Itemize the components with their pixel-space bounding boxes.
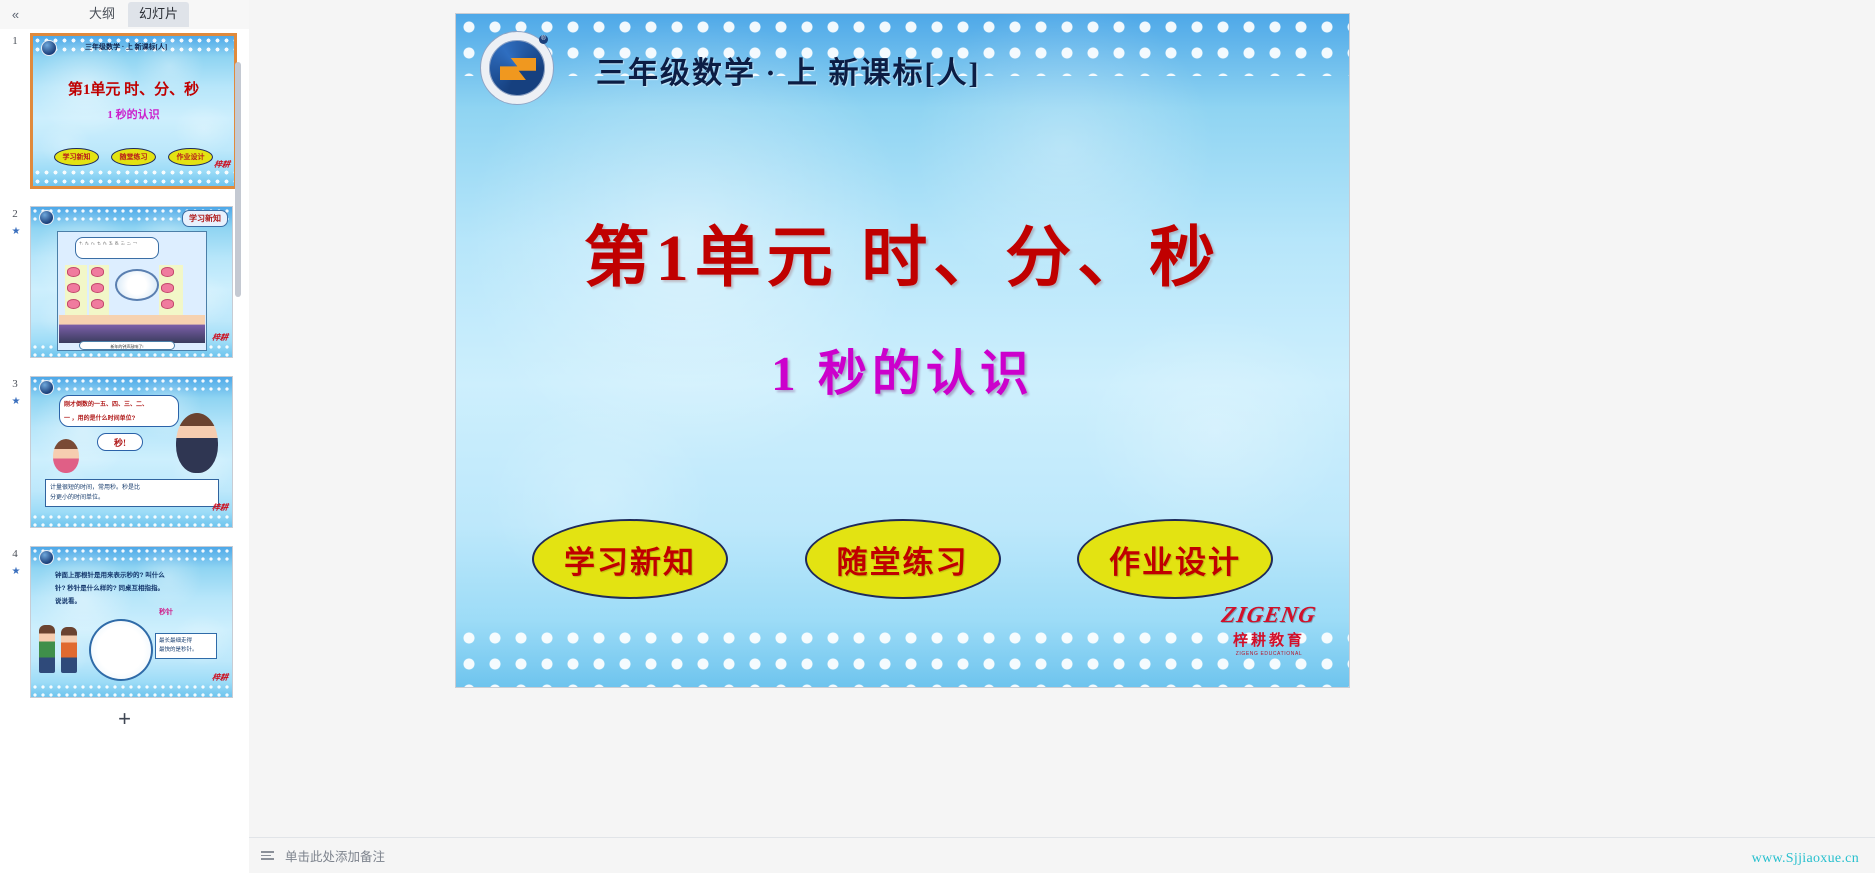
- teacher-figure: [176, 413, 218, 473]
- thumb-wrap-1: 三年级数学 · 上 新课标[人] 第1单元 时、分、秒 1 秒的认识 学习新知 …: [30, 33, 237, 189]
- bubble-line-1: 刚才倒数的一五、四、三、二、: [64, 399, 148, 408]
- animation-star-icon: ★: [12, 227, 19, 237]
- logo-registered-icon: ®: [539, 35, 548, 44]
- publisher-logo-icon: [39, 210, 54, 225]
- slide-title: 第1单元 时、分、秒: [456, 204, 1349, 300]
- student-figure: [61, 627, 77, 673]
- publisher-logo-icon: [41, 40, 57, 56]
- note-line-2: 最快的是秒针。: [159, 646, 213, 655]
- thumb-title: 第1单元 时、分、秒: [33, 78, 234, 99]
- slide-thumbnail-2[interactable]: 2 ★ 学习新知 十、九、八、七、六、五、四、三、二、一!: [0, 206, 249, 358]
- thumb-button-2: 随堂练习: [111, 148, 156, 166]
- publisher-logo-icon: [39, 550, 54, 565]
- site-watermark: www.Sjjiaoxue.cn: [1752, 851, 1859, 867]
- slide-number: 4: [12, 548, 18, 560]
- crowd-illustration: [59, 315, 205, 343]
- prompt-line-2: 针? 秒针是什么样的? 同桌互相指指。: [55, 582, 164, 592]
- thumb-canvas-1[interactable]: 三年级数学 · 上 新课标[人] 第1单元 时、分、秒 1 秒的认识 学习新知 …: [30, 33, 237, 189]
- panel-tabbar: « 大纲 幻灯片: [0, 0, 249, 29]
- publisher-logo-icon: ®: [481, 32, 553, 104]
- notes-lines-icon: [261, 849, 276, 862]
- thumb-canvas-3[interactable]: 刚才倒数的一五、四、三、二、 一 ，用的是什么时间单位? 秒! 计量很短的时间，…: [30, 376, 233, 528]
- student-figure: [53, 439, 79, 473]
- slide-number: 3: [12, 378, 18, 390]
- notes-placeholder[interactable]: 单击此处添加备注: [285, 846, 385, 865]
- publisher-logo-icon: [39, 380, 54, 395]
- thumb-button-3: 作业设计: [168, 148, 213, 166]
- lantern-icon: [91, 267, 104, 277]
- slide-number: 2: [12, 208, 18, 220]
- answer-bubble: 秒!: [97, 433, 143, 451]
- thumb-wrap-2: 学习新知 十、九、八、七、六、五、四、三、二、一!: [30, 206, 237, 358]
- dot-band-top: [31, 377, 232, 391]
- tab-outline[interactable]: 大纲: [78, 2, 126, 27]
- slide-meta-4: 4 ★: [0, 546, 30, 577]
- button-class-practice[interactable]: 随堂练习: [805, 519, 1001, 599]
- slide-header-text: 三年级数学 · 上 新课标[人]: [596, 48, 1216, 92]
- note-line-1: 最长最细走得: [159, 637, 213, 646]
- button-learn-new[interactable]: 学习新知: [532, 519, 728, 599]
- dot-band-bottom: [31, 513, 232, 527]
- brand-logo-chinese: 梓耕教育: [1213, 629, 1325, 650]
- student-figure: [39, 625, 55, 673]
- collapse-panel-icon[interactable]: «: [0, 0, 30, 29]
- thumb-brand-logo: 梓耕: [211, 332, 229, 343]
- brand-logo-tagline: ZIGENG EDUCATIONAL: [1213, 651, 1325, 657]
- add-slide-button[interactable]: +: [0, 701, 249, 737]
- animation-star-icon: ★: [12, 567, 19, 577]
- slide-stage: ® 三年级数学 · 上 新课标[人] 第1单元 时、分、秒 1 秒的认识 学习新…: [249, 0, 1875, 837]
- second-hand-label: 秒针: [159, 607, 173, 617]
- prompt-line-1: 钟面上那根针是用来表示秒的? 叫什么: [55, 569, 165, 579]
- dot-band-top: [31, 547, 232, 561]
- thumb-canvas-4[interactable]: 钟面上那根针是用来表示秒的? 叫什么 针? 秒针是什么样的? 同桌互相指指。 说…: [30, 546, 233, 698]
- main-slide-canvas[interactable]: ® 三年级数学 · 上 新课标[人] 第1单元 时、分、秒 1 秒的认识 学习新…: [456, 14, 1349, 687]
- slide-thumbnail-1[interactable]: 1 三年级数学 · 上 新课标[人] 第1单元 时、分、秒 1 秒的认识 学习新…: [0, 33, 249, 189]
- thumb-brand-logo: 梓耕: [211, 672, 229, 683]
- slide-thumbnail-4[interactable]: 4 ★ 钟面上那根针是用来表示秒的? 叫什么 针? 秒针是什么样的? 同桌互相指…: [0, 546, 249, 698]
- dot-band-bottom: [33, 168, 234, 186]
- button-homework-design[interactable]: 作业设计: [1077, 519, 1273, 599]
- thumb-brand-logo: 梓耕: [213, 159, 231, 170]
- brand-logo: ZIGENG 梓耕教育 ZIGENG EDUCATIONAL: [1213, 602, 1325, 657]
- lantern-icon: [67, 267, 80, 277]
- speech-bubble: 十、九、八、七、六、五、四、三、二、一!: [75, 237, 159, 259]
- thumb-wrap-3: 刚才倒数的一五、四、三、二、 一 ，用的是什么时间单位? 秒! 计量很短的时间，…: [30, 376, 237, 528]
- thumb-badge: 学习新知: [182, 210, 228, 227]
- thumb-canvas-2[interactable]: 学习新知 十、九、八、七、六、五、四、三、二、一!: [30, 206, 233, 358]
- slide-thumbnail-3[interactable]: 3 ★ 刚才倒数的一五、四、三、二、 一 ，用的是什么时间单位? 秒! 计量很: [0, 376, 249, 528]
- prompt-line-3: 说说看。: [55, 595, 81, 605]
- clock-icon: [89, 619, 153, 681]
- note-box: 计量很短的时间，常用秒。秒是比 分更小的时间单位。: [45, 479, 219, 507]
- ppt-editor-window: « 大纲 幻灯片 1 三年级数学 · 上 新课标[人] 第1单元 时、分、秒 1…: [0, 0, 1875, 873]
- slide-meta-1: 1: [0, 33, 30, 47]
- lantern-icon: [67, 299, 80, 309]
- lantern-icon: [161, 283, 174, 293]
- view-tabs: 大纲 幻灯片: [78, 2, 189, 27]
- lantern-icon: [91, 299, 104, 309]
- lantern-icon: [161, 299, 174, 309]
- caption-text: 新年的钟声敲响了!: [79, 341, 175, 350]
- slide-number: 1: [12, 35, 18, 47]
- note-line-1: 计量很短的时间，常用秒。秒是比: [50, 483, 214, 493]
- slide-meta-3: 3 ★: [0, 376, 30, 407]
- lantern-icon: [161, 267, 174, 277]
- animation-star-icon: ★: [12, 397, 19, 407]
- thumb-button-1: 学习新知: [54, 148, 99, 166]
- thumb-subtitle: 1 秒的认识: [33, 106, 234, 122]
- clock-icon: [115, 269, 159, 301]
- dot-band-bottom: [31, 683, 232, 697]
- notes-bar[interactable]: 单击此处添加备注 www.Sjjiaoxue.cn: [249, 837, 1875, 873]
- note-line-2: 分更小的时间单位。: [50, 493, 214, 503]
- slide-subtitle: 1 秒的认识: [456, 334, 1349, 405]
- thumb-brand-logo: 梓耕: [211, 502, 229, 513]
- tab-slides[interactable]: 幻灯片: [128, 2, 189, 27]
- lantern-icon: [67, 283, 80, 293]
- slide-meta-2: 2 ★: [0, 206, 30, 237]
- thumb-header: 三年级数学 · 上 新课标[人]: [85, 42, 167, 52]
- note-box: 最长最细走得 最快的是秒针。: [155, 633, 217, 659]
- slide-thumbnail-panel[interactable]: 1 三年级数学 · 上 新课标[人] 第1单元 时、分、秒 1 秒的认识 学习新…: [0, 29, 249, 701]
- lantern-icon: [91, 283, 104, 293]
- thumbnail-panel-scrollbar[interactable]: [235, 62, 241, 297]
- thumb-wrap-4: 钟面上那根针是用来表示秒的? 叫什么 针? 秒针是什么样的? 同桌互相指指。 说…: [30, 546, 237, 698]
- brand-logo-wordmark: ZIGENG: [1211, 602, 1328, 628]
- bubble-line-2: 一 ，用的是什么时间单位?: [64, 413, 135, 422]
- nav-button-row: 学习新知 随堂练习 作业设计: [532, 519, 1273, 599]
